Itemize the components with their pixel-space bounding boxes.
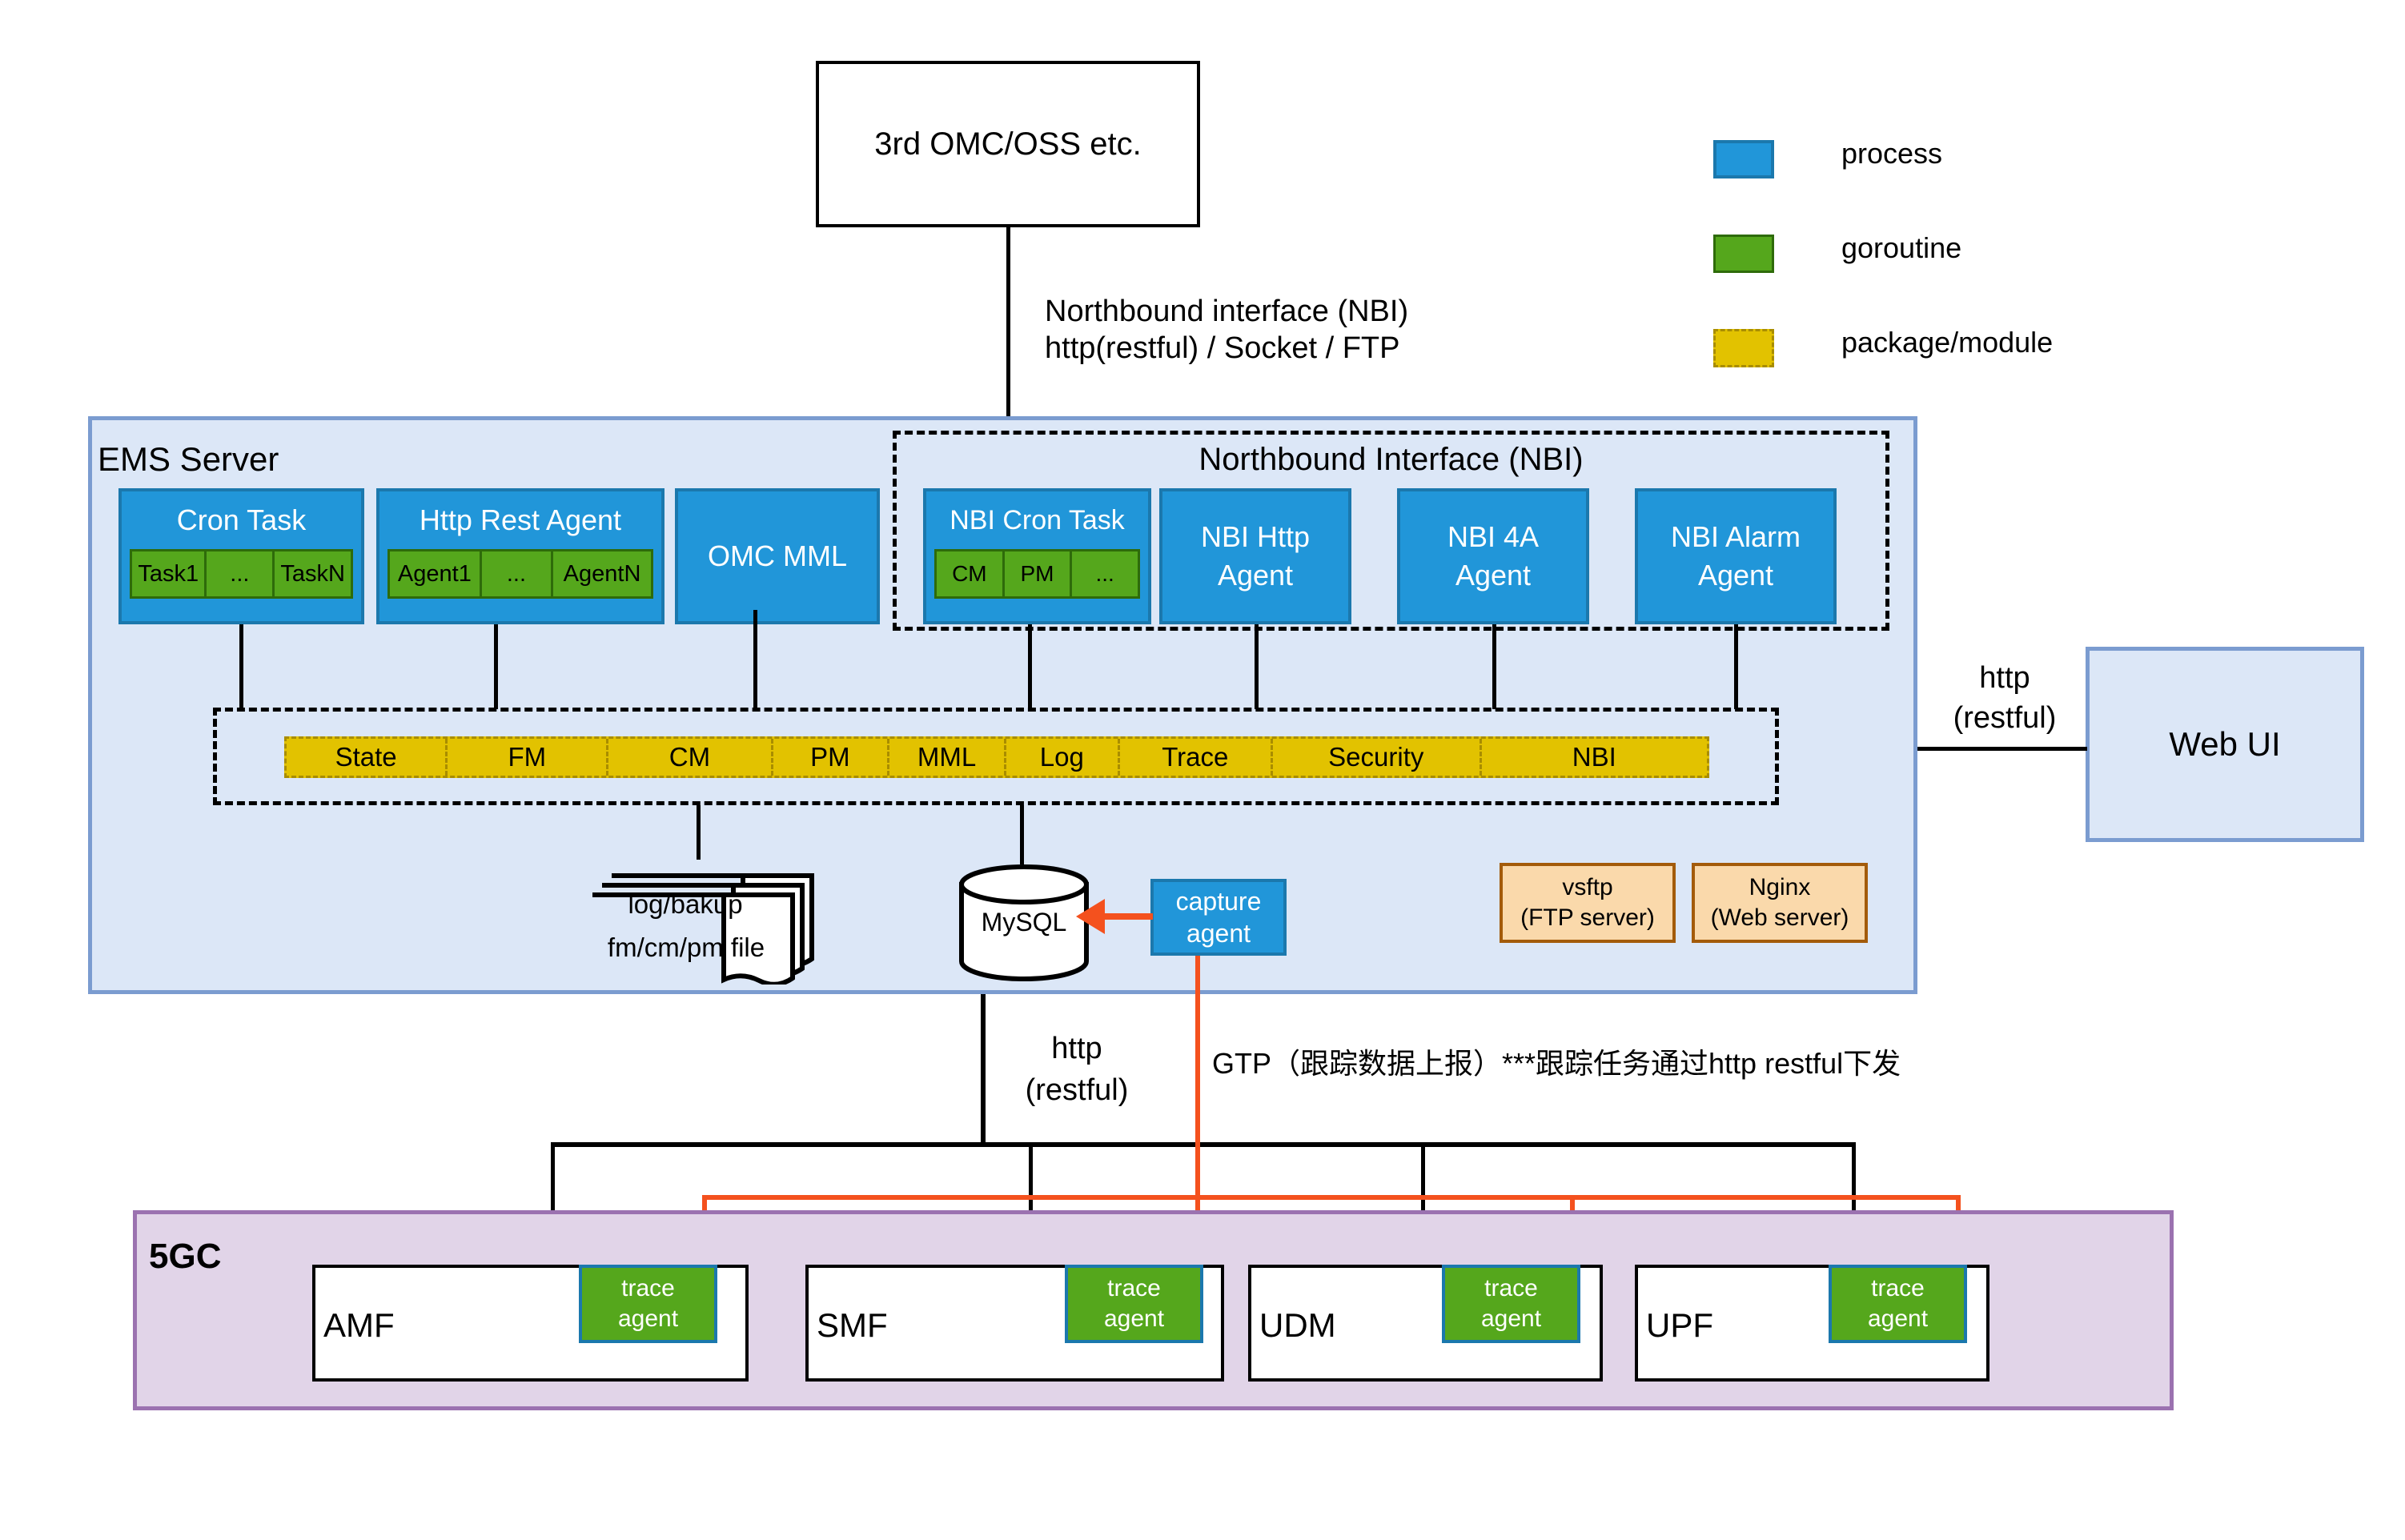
log-backup-file-label-line1: log/bakup xyxy=(581,887,789,922)
south-link-line1: http xyxy=(1051,1028,1102,1069)
log-backup-file-label-line2: fm/cm/pm file xyxy=(578,930,794,965)
process-http-rest-agent[interactable]: Http Rest Agent Agent1 ... AgentN xyxy=(376,488,664,624)
goroutine-agent-ellipsis: ... xyxy=(482,549,553,599)
network-function-smf-label: SMF xyxy=(817,1306,888,1345)
connector-trace-agent-bus xyxy=(702,1195,1961,1200)
process-omc-mml-label: OMC MML xyxy=(708,539,847,573)
process-omc-mml[interactable]: OMC MML xyxy=(675,488,880,624)
process-capture-agent-line2: agent xyxy=(1186,917,1251,949)
connector-cron-task-to-modules xyxy=(239,624,243,709)
module-mml[interactable]: MML xyxy=(889,739,1006,776)
process-nbi-4a-agent-line1: NBI 4A xyxy=(1447,518,1539,556)
web-ui-label: Web UI xyxy=(2169,725,2280,764)
process-swatch xyxy=(1713,140,1774,178)
nbi-link-line2: http(restful) / Socket / FTP xyxy=(1045,330,1621,367)
connector-modules-to-database xyxy=(1020,805,1024,864)
web-ui-box[interactable]: Web UI xyxy=(2086,647,2364,842)
goroutine-taskn[interactable]: TaskN xyxy=(275,549,353,599)
legend-label-goroutine: goroutine xyxy=(1841,231,1961,265)
server-vsftp-line1: vsftp xyxy=(1562,872,1612,903)
trace-agent-udm[interactable]: trace agent xyxy=(1442,1265,1580,1343)
connector-omc-mml-to-modules xyxy=(753,610,757,709)
connector-omc-to-ems xyxy=(1006,227,1010,419)
module-log[interactable]: Log xyxy=(1006,739,1120,776)
connector-nbi-4a-agent-to-modules xyxy=(1492,624,1496,709)
process-cron-task-label: Cron Task xyxy=(122,491,361,549)
process-capture-agent-line1: capture xyxy=(1176,885,1262,917)
module-state[interactable]: State xyxy=(287,739,448,776)
nbi-group-title: Northbound Interface (NBI) xyxy=(893,439,1889,480)
mysql-database-label: MySQL xyxy=(958,904,1090,940)
trace-agent-smf-line2: agent xyxy=(1104,1304,1164,1334)
process-cron-task[interactable]: Cron Task Task1 ... TaskN xyxy=(118,488,364,624)
nbi-link-label: Northbound interface (NBI) http(restful)… xyxy=(1045,293,1621,381)
server-nginx[interactable]: Nginx (Web server) xyxy=(1692,863,1868,943)
trace-agent-udm-line2: agent xyxy=(1481,1304,1541,1334)
goroutine-task-ellipsis: ... xyxy=(207,549,275,599)
third-party-omc-oss-box[interactable]: 3rd OMC/OSS etc. xyxy=(816,61,1200,227)
legend: process goroutine package/module xyxy=(1713,140,2162,380)
network-function-amf-label: AMF xyxy=(323,1306,395,1345)
trace-agent-amf-line1: trace xyxy=(621,1273,675,1304)
goroutine-agent1[interactable]: Agent1 xyxy=(387,549,482,599)
goroutine-swatch xyxy=(1713,235,1774,273)
legend-label-module: package/module xyxy=(1841,326,2053,359)
trace-agent-upf-line2: agent xyxy=(1868,1304,1928,1334)
process-nbi-http-agent[interactable]: NBI Http Agent xyxy=(1159,488,1351,624)
connector-nbi-http-agent-to-modules xyxy=(1255,624,1259,709)
architecture-diagram: 3rd OMC/OSS etc. Northbound interface (N… xyxy=(0,0,2405,1540)
process-nbi-4a-agent-line2: Agent xyxy=(1455,556,1531,595)
module-cm[interactable]: CM xyxy=(608,739,773,776)
trace-agent-upf[interactable]: trace agent xyxy=(1829,1265,1967,1343)
module-pm[interactable]: PM xyxy=(773,739,890,776)
connector-http-rest-agent-to-modules xyxy=(494,624,498,709)
goroutine-nbi-pm[interactable]: PM xyxy=(1005,549,1073,599)
process-nbi-alarm-agent-line1: NBI Alarm xyxy=(1671,518,1801,556)
web-ui-link-line1: http xyxy=(1979,658,2030,698)
module-security[interactable]: Security xyxy=(1273,739,1482,776)
process-nbi-4a-agent[interactable]: NBI 4A Agent xyxy=(1397,488,1589,624)
arrow-capture-to-mysql-shaft xyxy=(1098,913,1153,920)
process-nbi-alarm-agent[interactable]: NBI Alarm Agent xyxy=(1635,488,1837,624)
module-fm[interactable]: FM xyxy=(448,739,608,776)
module-trace[interactable]: Trace xyxy=(1120,739,1273,776)
connector-nbi-alarm-agent-to-modules xyxy=(1734,624,1738,709)
gtp-note: GTP（跟踪数据上报）***跟踪任务通过http restful下发 xyxy=(1212,1041,1901,1082)
connector-gtp-trunk-vertical xyxy=(1195,956,1200,1197)
nbi-link-line1: Northbound interface (NBI) xyxy=(1045,293,1621,330)
connector-south-bus xyxy=(551,1142,1856,1147)
trace-agent-upf-line1: trace xyxy=(1871,1273,1925,1304)
goroutine-nbi-ellipsis: ... xyxy=(1072,549,1140,599)
module-nbi[interactable]: NBI xyxy=(1482,739,1707,776)
goroutine-agentn[interactable]: AgentN xyxy=(553,549,653,599)
web-ui-link-label: http (restful) xyxy=(1920,653,2090,743)
server-nginx-line2: (Web server) xyxy=(1711,903,1849,933)
south-link-line2: (restful) xyxy=(1026,1069,1129,1111)
process-nbi-http-agent-line1: NBI Http xyxy=(1201,518,1310,556)
process-capture-agent[interactable]: capture agent xyxy=(1150,879,1287,956)
goroutine-nbi-cm[interactable]: CM xyxy=(934,549,1005,599)
trace-agent-amf-line2: agent xyxy=(618,1304,678,1334)
trace-agent-udm-line1: trace xyxy=(1484,1273,1538,1304)
server-vsftp-line2: (FTP server) xyxy=(1520,903,1655,933)
process-nbi-cron-task[interactable]: NBI Cron Task CM PM ... xyxy=(923,488,1151,624)
connector-ems-to-web-ui xyxy=(1917,747,2087,751)
legend-label-process: process xyxy=(1841,137,1942,170)
server-vsftp[interactable]: vsftp (FTP server) xyxy=(1500,863,1676,943)
south-link-label: http (restful) xyxy=(1005,1025,1149,1114)
web-ui-link-line2: (restful) xyxy=(1953,698,2057,738)
connector-modules-to-files xyxy=(697,805,701,860)
process-nbi-http-agent-line2: Agent xyxy=(1218,556,1293,595)
process-nbi-alarm-agent-line2: Agent xyxy=(1698,556,1773,595)
trace-agent-smf[interactable]: trace agent xyxy=(1065,1265,1203,1343)
server-nginx-line1: Nginx xyxy=(1749,872,1811,903)
process-nbi-cron-task-label: NBI Cron Task xyxy=(926,491,1148,549)
network-function-udm-label: UDM xyxy=(1259,1306,1336,1345)
module-swatch xyxy=(1713,329,1774,367)
connector-ems-south-drop xyxy=(981,994,986,1146)
trace-agent-smf-line1: trace xyxy=(1107,1273,1161,1304)
connector-nbi-cron-task-to-modules xyxy=(1028,624,1032,709)
arrow-capture-to-mysql-head xyxy=(1076,898,1105,935)
network-function-upf-label: UPF xyxy=(1646,1306,1713,1345)
process-http-rest-agent-label: Http Rest Agent xyxy=(379,491,661,549)
goroutine-task1[interactable]: Task1 xyxy=(130,549,207,599)
third-party-omc-oss-label: 3rd OMC/OSS etc. xyxy=(874,126,1141,162)
ems-server-title: EMS Server xyxy=(98,440,279,479)
core-5gc-title: 5GC xyxy=(149,1237,221,1277)
modules-bar: State FM CM PM MML Log Trace Security NB… xyxy=(284,736,1709,778)
trace-agent-amf[interactable]: trace agent xyxy=(579,1265,717,1343)
